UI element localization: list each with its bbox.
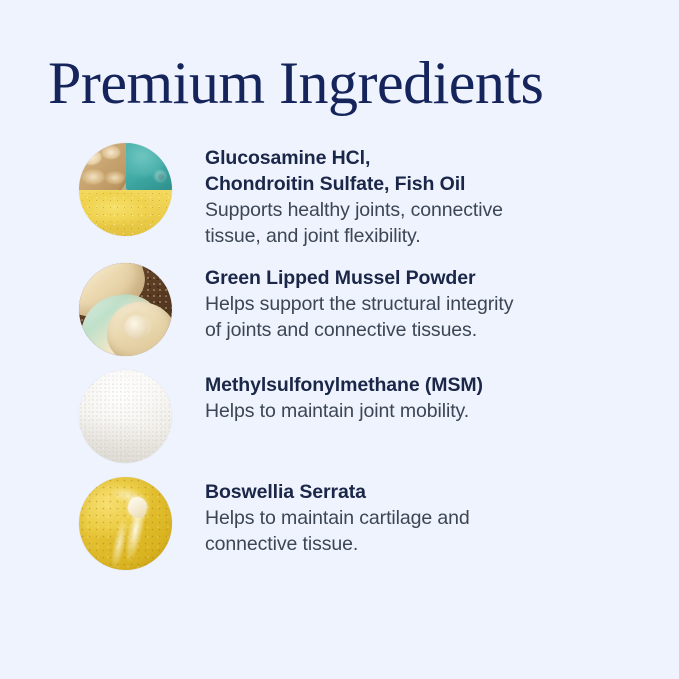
ingredient-list: Glucosamine HCl, Chondroitin Sulfate, Fi… bbox=[0, 143, 679, 584]
ingredient-description-line: Helps to maintain joint mobility. bbox=[205, 398, 483, 424]
ingredient-description-line: tissue, and joint flexibility. bbox=[205, 223, 503, 249]
ingredient-description-line: Helps to maintain cartilage and bbox=[205, 505, 470, 531]
ingredient-name: Green Lipped Mussel Powder bbox=[205, 265, 513, 291]
ingredient-name: Boswellia Serrata bbox=[205, 479, 470, 505]
ingredient-text-block: Glucosamine HCl, Chondroitin Sulfate, Fi… bbox=[172, 143, 503, 249]
teal-quadrant bbox=[126, 143, 173, 190]
ingredient-description: Helps support the structural integrity o… bbox=[205, 291, 513, 343]
boswellia-serrata-swatch-icon bbox=[79, 477, 172, 570]
ingredients-infographic: Premium Ingredients Glucosamine HCl, Cho… bbox=[0, 0, 679, 679]
crystal-quadrant bbox=[79, 143, 126, 190]
ingredient-item-glucosamine: Glucosamine HCl, Chondroitin Sulfate, Fi… bbox=[0, 143, 679, 249]
ingredient-name: Methylsulfonylmethane (MSM) bbox=[205, 372, 483, 398]
ingredient-text-block: Green Lipped Mussel Powder Helps support… bbox=[172, 263, 513, 343]
ingredient-description: Supports healthy joints, connective tiss… bbox=[205, 197, 503, 249]
ingredient-name-line: Glucosamine HCl, bbox=[205, 145, 503, 171]
oil-half bbox=[79, 190, 172, 237]
ingredient-description: Helps to maintain cartilage and connecti… bbox=[205, 505, 470, 557]
ingredient-name-line: Chondroitin Sulfate, Fish Oil bbox=[205, 171, 503, 197]
ingredient-description-line: Supports healthy joints, connective bbox=[205, 197, 503, 223]
ingredient-text-block: Boswellia Serrata Helps to maintain cart… bbox=[172, 477, 470, 557]
ingredient-item-msm: Methylsulfonylmethane (MSM) Helps to mai… bbox=[0, 370, 679, 463]
ingredient-item-boswellia: Boswellia Serrata Helps to maintain cart… bbox=[0, 477, 679, 570]
ingredient-name-line: Methylsulfonylmethane (MSM) bbox=[205, 372, 483, 398]
ingredient-text-block: Methylsulfonylmethane (MSM) Helps to mai… bbox=[172, 370, 483, 424]
ingredient-name: Glucosamine HCl, Chondroitin Sulfate, Fi… bbox=[205, 145, 503, 197]
ingredient-description-line: of joints and connective tissues. bbox=[205, 317, 513, 343]
page-title: Premium Ingredients bbox=[48, 50, 543, 116]
ingredient-description-line: Helps support the structural integrity bbox=[205, 291, 513, 317]
green-lipped-mussel-swatch-icon bbox=[79, 263, 172, 356]
ingredient-item-green-lipped-mussel: Green Lipped Mussel Powder Helps support… bbox=[0, 263, 679, 356]
ingredient-name-line: Green Lipped Mussel Powder bbox=[205, 265, 513, 291]
ingredient-description-line: connective tissue. bbox=[205, 531, 470, 557]
ingredient-description: Helps to maintain joint mobility. bbox=[205, 398, 483, 424]
msm-powder-swatch-icon bbox=[79, 370, 172, 463]
ingredient-name-line: Boswellia Serrata bbox=[205, 479, 470, 505]
resin-edge-shading bbox=[79, 477, 172, 570]
powder-shading bbox=[79, 370, 172, 463]
glucosamine-chondroitin-fishoil-swatch-icon bbox=[79, 143, 172, 236]
